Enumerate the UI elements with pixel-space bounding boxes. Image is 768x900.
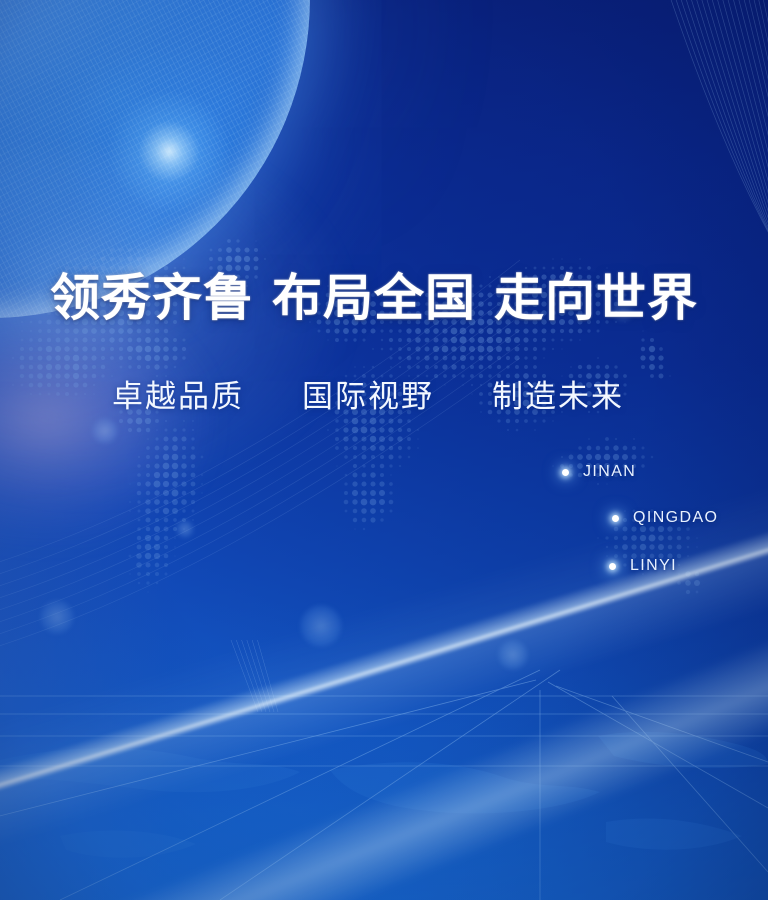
city-marker-linyi: LINYI — [609, 557, 677, 575]
city-dot-marker-icon — [609, 563, 616, 570]
headline-part-2: 布局全国 — [272, 270, 476, 326]
city-dot-marker-icon — [562, 469, 569, 476]
city-dot-marker-icon — [612, 515, 619, 522]
subheadline-part-3: 制造未来 — [492, 379, 624, 414]
subheadline-part-2: 国际视野 — [302, 379, 434, 414]
city-label-qingdao: QINGDAO — [633, 509, 718, 527]
headline-part-1: 领秀齐鲁 — [50, 270, 254, 326]
city-marker-qingdao: QINGDAO — [612, 509, 718, 527]
city-label-linyi: LINYI — [630, 557, 677, 575]
subheadline-part-1: 卓越品质 — [112, 379, 244, 414]
headline-part-3: 走向世界 — [494, 270, 698, 326]
city-marker-jinan: JINAN — [562, 463, 636, 481]
banner-headline: 领秀齐鲁布局全国走向世界 — [50, 272, 698, 325]
banner-subheadline: 卓越品质国际视野制造未来 — [112, 371, 624, 416]
city-label-jinan: JINAN — [583, 463, 636, 481]
vignette-overlay — [0, 0, 768, 900]
banner-stage: 领秀齐鲁布局全国走向世界 卓越品质国际视野制造未来 JINAN QINGDAO … — [0, 0, 768, 900]
